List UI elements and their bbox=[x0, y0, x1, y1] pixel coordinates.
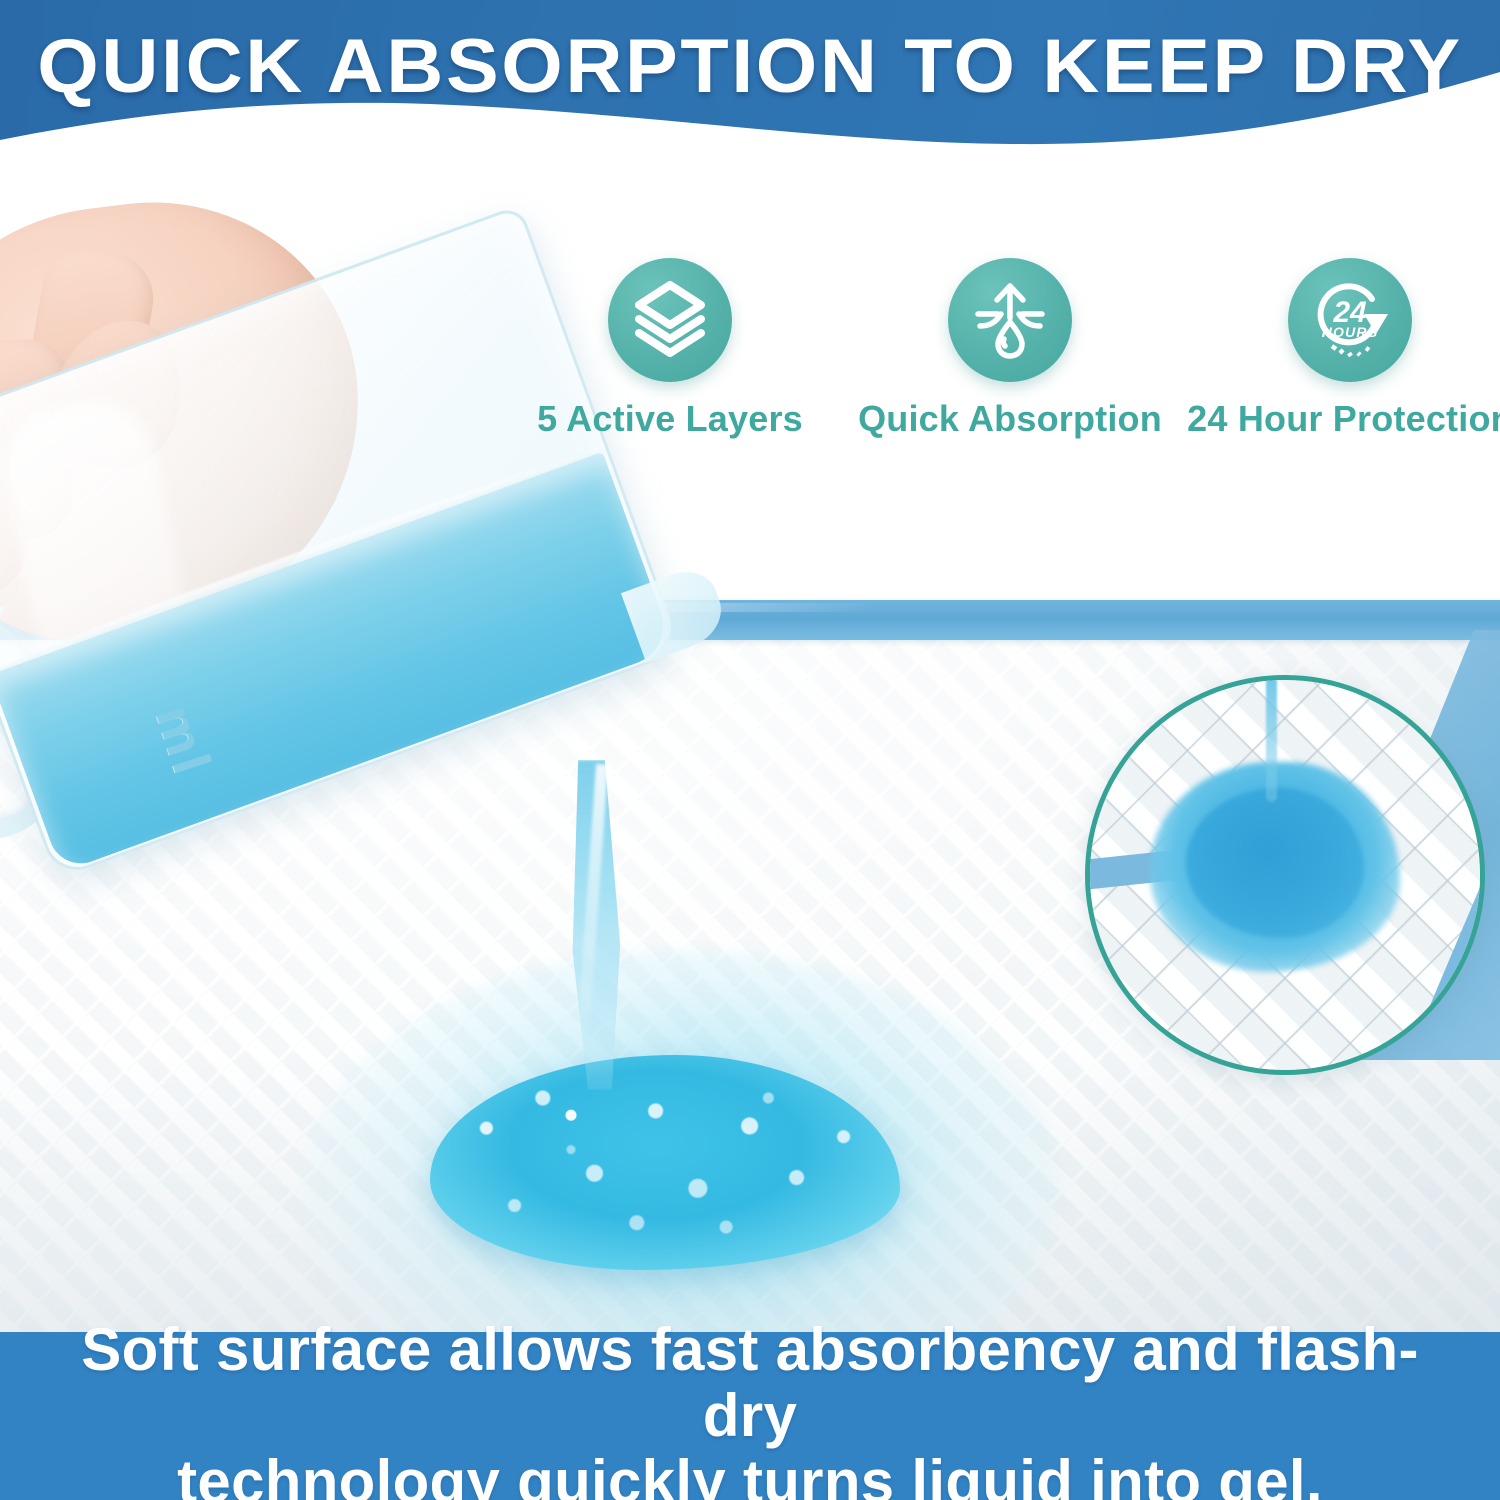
feature-item-absorption: Quick Absorption bbox=[860, 258, 1160, 440]
absorption-arrow-droplet-icon bbox=[968, 278, 1052, 362]
magnified-absorption-inset bbox=[1085, 675, 1485, 1075]
caption-banner: Soft surface allows fast absorbency and … bbox=[0, 1332, 1500, 1500]
24-hour-protection-icon: 24 HOURS bbox=[1306, 276, 1394, 364]
feature-item-protection: 24 HOURS 24 Hour Protection bbox=[1200, 258, 1500, 440]
caption-text: Soft surface allows fast absorbency and … bbox=[50, 1317, 1450, 1500]
feature-list: 5 Active Layers Quick Abs bbox=[520, 258, 1500, 473]
feature-label: Quick Absorption bbox=[858, 398, 1162, 440]
feature-badge: 24 HOURS bbox=[1288, 258, 1412, 382]
feature-label: 24 Hour Protection bbox=[1187, 398, 1500, 440]
caption-line-1: Soft surface allows fast absorbency and … bbox=[50, 1317, 1450, 1449]
caption-line-2: technology quickly turns liquid into gel… bbox=[50, 1449, 1450, 1500]
feature-badge bbox=[948, 258, 1072, 382]
inset-liquid-blot-core bbox=[1186, 788, 1364, 938]
badge-hours-label: HOURS bbox=[1322, 324, 1379, 340]
feature-label: 5 Active Layers bbox=[537, 398, 803, 440]
layers-stack-icon bbox=[627, 277, 713, 363]
inset-liquid-drip bbox=[1266, 675, 1277, 802]
header-banner: QUICK ABSORPTION TO KEEP DRY bbox=[0, 0, 1500, 176]
product-feature-graphic: QUICK ABSORPTION TO KEEP DRY bbox=[0, 0, 1500, 1500]
feature-badge bbox=[608, 258, 732, 382]
feature-item-layers: 5 Active Layers bbox=[520, 258, 820, 440]
